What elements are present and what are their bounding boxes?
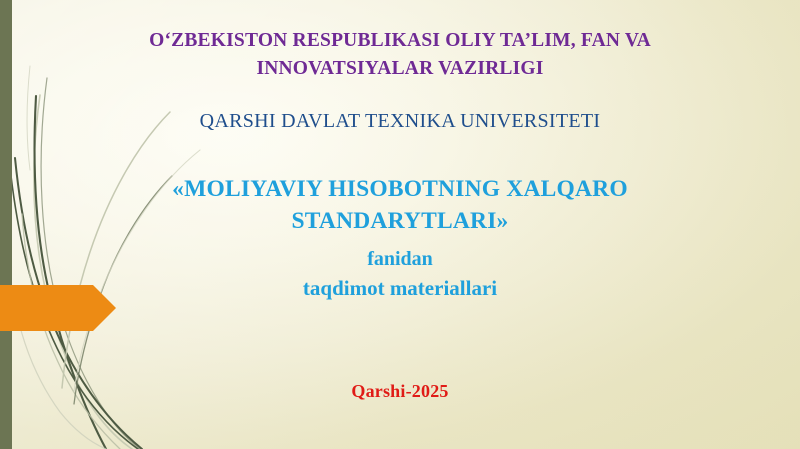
course-title-line-1: «MOLIYAVIY HISOBOTNING XALQARO xyxy=(0,173,800,205)
university-name: QARSHI DAVLAT TEXNIKA UNIVERSITETI xyxy=(0,111,800,133)
presentation-title-slide: O‘ZBEKISTON RESPUBLIKASI OLIY TA’LIM, FA… xyxy=(0,0,800,449)
course-title-line-2: STANDARYTLARI» xyxy=(0,205,800,237)
presentation-materials-label: taqdimot materiallari xyxy=(0,277,800,300)
slide-text-content: O‘ZBEKISTON RESPUBLIKASI OLIY TA’LIM, FA… xyxy=(0,0,800,449)
place-and-year: Qarshi-2025 xyxy=(0,382,800,401)
subject-preposition: fanidan xyxy=(0,249,800,271)
ministry-heading-line-2: INNOVATSIYALAR VAZIRLIGI xyxy=(0,55,800,83)
ministry-heading: O‘ZBEKISTON RESPUBLIKASI OLIY TA’LIM, FA… xyxy=(0,27,800,82)
ministry-heading-line-1: O‘ZBEKISTON RESPUBLIKASI OLIY TA’LIM, FA… xyxy=(0,27,800,55)
course-title: «MOLIYAVIY HISOBOTNING XALQARO STANDARYT… xyxy=(0,173,800,238)
